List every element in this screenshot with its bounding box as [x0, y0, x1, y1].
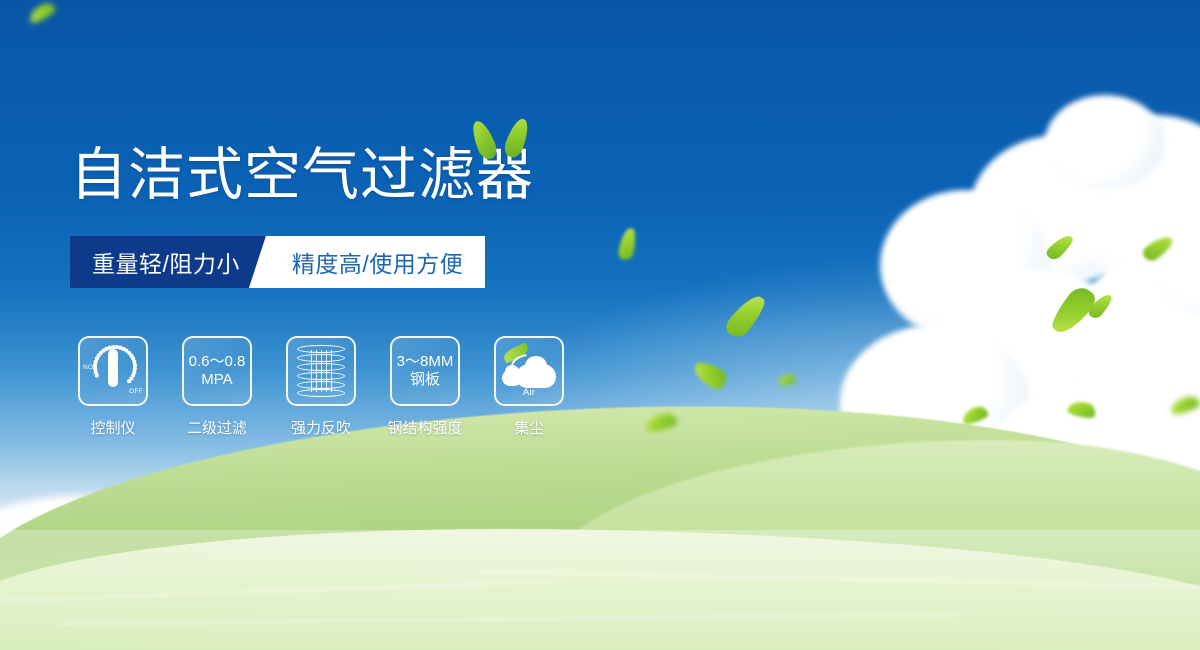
feature-label: 控制仪	[90, 417, 135, 438]
gauge-dot	[95, 374, 98, 377]
gauge-dot	[95, 357, 98, 360]
feature-item-dust-collection[interactable]: Air 集尘	[486, 336, 572, 438]
product-banner: 自洁式空气过滤器 重量轻/阻力小 精度高/使用方便 NO OFF 控制仪	[0, 0, 1200, 650]
field-highlight	[0, 530, 1200, 650]
pressure-line-2: MPA	[201, 371, 232, 389]
gauge-dot	[94, 360, 97, 363]
feature-item-reverse-blow[interactable]: 强力反吹	[278, 336, 364, 438]
gauge-dial-icon: NO OFF	[78, 336, 148, 406]
subtitle-badge-left: 重量轻/阻力小	[70, 236, 266, 288]
feature-label: 钢结构强度	[387, 417, 462, 438]
subtitle-badge: 重量轻/阻力小 精度高/使用方便	[70, 236, 485, 288]
coil-stack	[297, 345, 345, 397]
feature-list: NO OFF 控制仪 0.6～0.8 MPA 二级过滤	[70, 336, 572, 438]
filter-coil-icon	[286, 336, 356, 406]
sprout-leaves-icon	[468, 110, 538, 166]
gauge-no-label: NO	[83, 364, 93, 371]
feature-item-two-stage-filter[interactable]: 0.6～0.8 MPA 二级过滤	[174, 336, 260, 438]
gauge-dot	[127, 379, 130, 382]
page-title: 自洁式空气过滤器	[70, 146, 534, 206]
gauge-off-label: OFF	[129, 388, 143, 395]
gauge-dot	[93, 364, 96, 367]
feature-item-steel-strength[interactable]: 3～8MM 钢板 钢结构强度	[382, 336, 468, 438]
pressure-line-1: 0.6～0.8	[189, 353, 246, 371]
air-label: Air	[501, 387, 557, 398]
sprout-leaf-left	[468, 118, 500, 162]
feature-label: 强力反吹	[291, 417, 351, 438]
steel-line-2: 钢板	[410, 371, 440, 389]
air-cloud-icon: Air	[494, 336, 564, 406]
steel-line-1: 3～8MM	[397, 353, 454, 371]
gauge-needle	[108, 349, 118, 387]
pressure-value-icon: 0.6～0.8 MPA	[182, 336, 252, 406]
feature-label: 二级过滤	[187, 417, 247, 438]
feature-item-controller[interactable]: NO OFF 控制仪	[70, 336, 156, 438]
steel-plate-icon: 3～8MM 钢板	[390, 336, 460, 406]
gauge-dot	[97, 354, 100, 357]
subtitle-badge-right: 精度高/使用方便	[266, 236, 485, 288]
feature-label: 集尘	[514, 417, 544, 438]
sprout-leaf-right	[502, 116, 533, 160]
grass-field	[0, 475, 1200, 650]
